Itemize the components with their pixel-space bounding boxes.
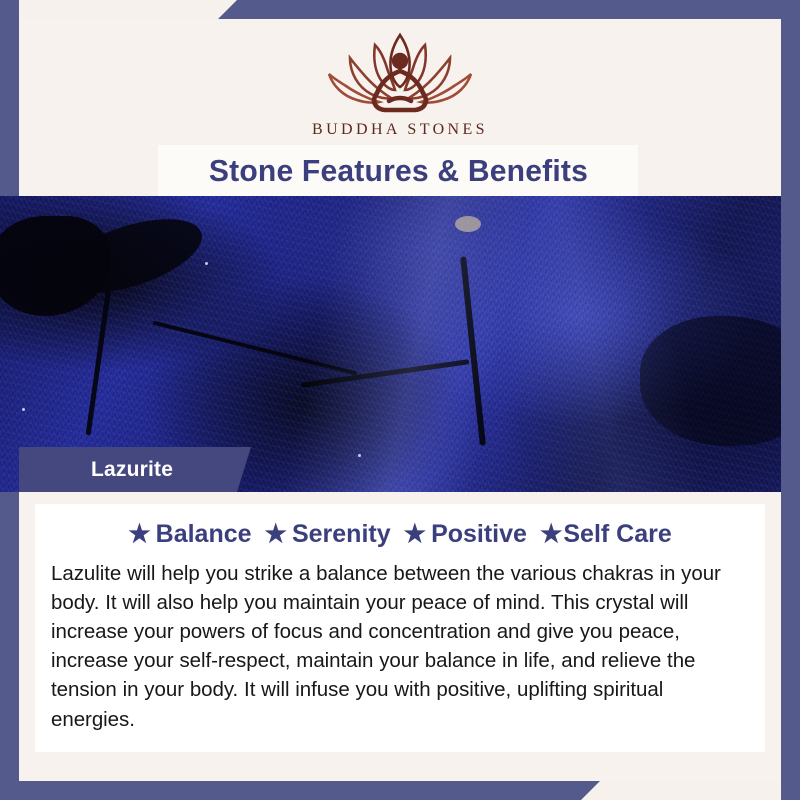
stone-fleck: [455, 216, 481, 232]
stone-name-label: Lazurite: [91, 458, 173, 482]
feature-item-self-care: ★ Self Care: [540, 520, 672, 549]
feature-item-serenity: ★ Serenity: [265, 520, 391, 549]
stone-name-tab: Lazurite: [19, 447, 251, 492]
stone-fleck: [358, 454, 361, 457]
frame-top-bar: [218, 0, 800, 19]
stone-description: Lazulite will help you strike a balance …: [51, 559, 749, 734]
feature-item-balance: ★ Balance: [128, 520, 251, 549]
content-panel: ★ Balance ★ Serenity ★ Positive ★ Self C…: [19, 492, 781, 762]
feature-label: Positive: [431, 520, 527, 549]
feature-label: Balance: [156, 520, 252, 549]
feature-label: Self Care: [563, 520, 671, 549]
star-icon: ★: [128, 522, 150, 547]
title-banner: Stone Features & Benefits: [158, 145, 638, 196]
stone-fleck: [205, 262, 208, 265]
frame-right-bar: [781, 0, 800, 800]
stone-info-poster: BUDDHA STONES Stone Features & Benefits …: [0, 0, 800, 800]
star-icon: ★: [265, 522, 287, 547]
feature-item-positive: ★ Positive: [404, 520, 527, 549]
brand-name: BUDDHA STONES: [312, 121, 488, 139]
content-card: ★ Balance ★ Serenity ★ Positive ★ Self C…: [35, 504, 765, 752]
star-icon: ★: [404, 522, 426, 547]
star-icon: ★: [540, 522, 562, 547]
feature-label: Serenity: [292, 520, 391, 549]
brand-logo-block: BUDDHA STONES: [19, 19, 781, 152]
lotus-meditation-icon: [309, 27, 491, 119]
stone-fleck: [22, 408, 25, 411]
feature-list: ★ Balance ★ Serenity ★ Positive ★ Self C…: [51, 520, 749, 549]
frame-bottom-bar: [0, 781, 600, 800]
page-title: Stone Features & Benefits: [208, 153, 587, 189]
